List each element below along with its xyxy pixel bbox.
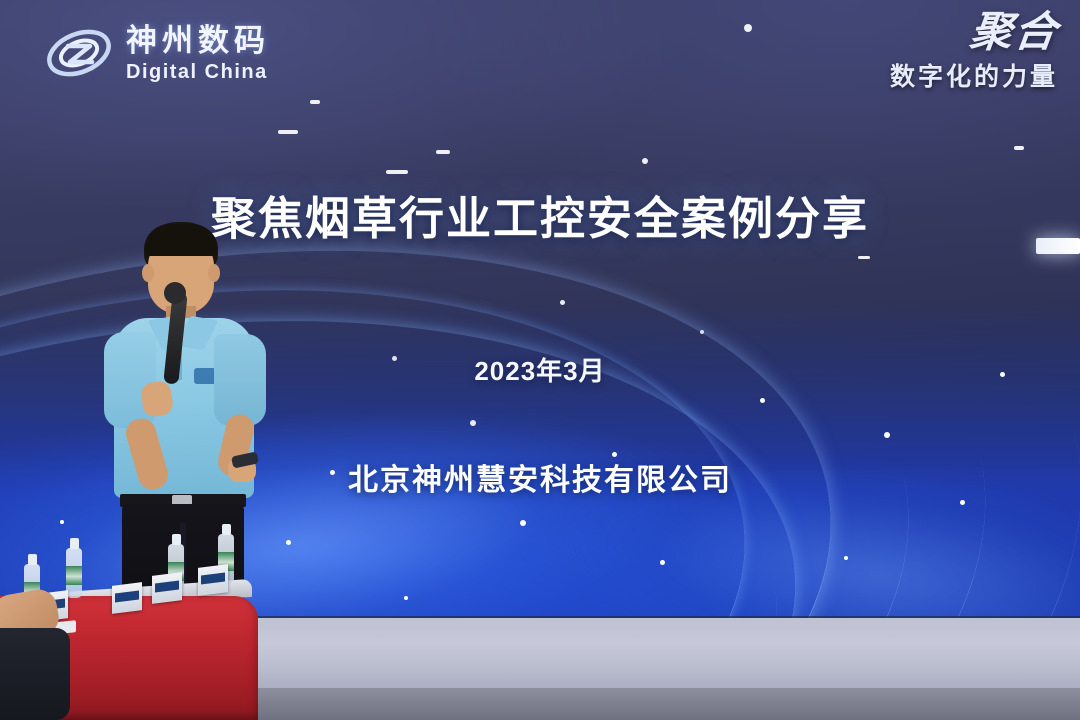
bottle-cap — [222, 524, 231, 535]
particle-dot — [642, 158, 648, 164]
particle-dash — [436, 150, 450, 154]
event-logo-calligraphy: 聚合 — [888, 14, 1061, 53]
particle-dot — [60, 520, 64, 524]
particle-dot — [760, 398, 765, 403]
bottle-cap — [28, 554, 37, 565]
digital-china-logo: 神州数码 Digital China — [44, 22, 270, 84]
particle-dot — [844, 556, 848, 560]
particle-dash — [858, 256, 870, 259]
particle-dot — [404, 596, 408, 600]
particle-dot — [470, 420, 476, 426]
microphone-head — [164, 282, 186, 304]
placard-text-bar — [201, 573, 225, 585]
particle-dot — [700, 330, 704, 334]
particle-dot — [286, 540, 291, 545]
particle-dot — [560, 300, 565, 305]
name-placard — [152, 572, 182, 604]
particle-dot — [960, 500, 965, 505]
speaker-sleeve-right — [214, 334, 266, 426]
brand-text-block: 神州数码 Digital China — [126, 25, 270, 82]
speaker-hair-top — [144, 224, 218, 256]
speaker-chest-logo — [194, 368, 216, 384]
placard-text-bar — [155, 581, 179, 593]
bottle-cap — [70, 538, 79, 549]
event-logo: 聚合 数字化的力量 — [890, 14, 1058, 93]
speaker-hand-holding-mic — [140, 380, 174, 418]
bottle-cap — [172, 534, 181, 545]
event-logo-tagline: 数字化的力量 — [890, 57, 1058, 93]
speaker-ear-right — [208, 264, 220, 282]
digital-china-spiral-icon — [44, 22, 114, 84]
particle-dot — [520, 520, 526, 526]
particle-dot — [660, 560, 665, 565]
particle-dash — [310, 100, 320, 104]
name-placard — [112, 582, 142, 614]
particle-dash — [278, 130, 298, 134]
particle-dot — [744, 24, 752, 32]
particle-dot — [884, 432, 890, 438]
particle-dash — [1014, 146, 1024, 150]
name-placard — [198, 564, 228, 596]
attendee-silhouette — [0, 628, 70, 720]
water-bottle — [66, 538, 82, 598]
placard-text-bar — [115, 591, 139, 603]
bottle-label — [66, 566, 82, 585]
brand-name-en: Digital China — [126, 62, 270, 82]
speaker-ear-left — [142, 264, 154, 282]
particle-dash — [386, 170, 408, 174]
brand-name-cn: 神州数码 — [126, 25, 270, 56]
screenshot-root: 神州数码 Digital China 聚合 数字化的力量 聚焦烟草行业工控安全案… — [0, 0, 1080, 720]
